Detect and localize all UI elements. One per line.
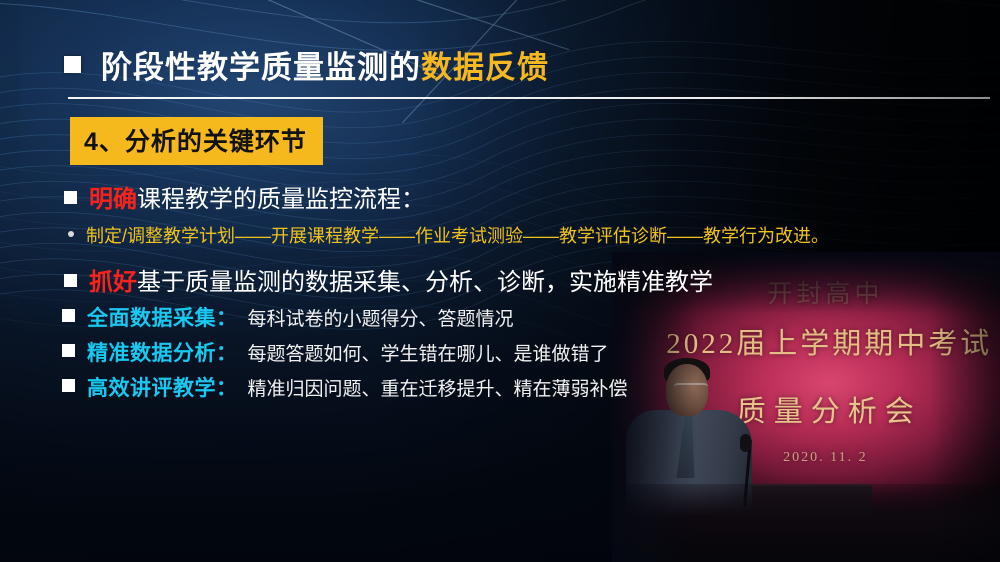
conference-photo: 开封高中 2022届上学期期中考试 质量分析会 2020. 11. 2 [612, 252, 1000, 562]
sub-item-teach: 高效讲评教学：精准归因问题、重在迁移提升、精在薄弱补偿 [62, 372, 628, 402]
page-title: 阶段性教学质量监测的数据反馈 [101, 42, 549, 87]
sub-item-teach-value: 精准归因问题、重在迁移提升、精在薄弱补偿 [248, 379, 628, 400]
square-bullet-icon [62, 309, 75, 322]
bullet-zhuahao-text: 抓好基于质量监测的数据采集、分析、诊断，实施精准教学 [89, 262, 713, 297]
sub-item-collect-content: 全面数据采集：每科试卷的小题得分、答题情况 [87, 302, 514, 332]
sub-item-teach-key: 高效讲评教学： [87, 377, 238, 400]
square-bullet-icon [62, 379, 75, 392]
sub-item-collect: 全面数据采集：每科试卷的小题得分、答题情况 [62, 302, 514, 332]
square-bullet-icon [64, 191, 77, 204]
section-heading-chip: 4、分析的关键环节 [70, 117, 323, 165]
bullet-process: 制定/调整教学计划——开展课程教学——作业考试测验——教学评估诊断——教学行为改… [68, 222, 829, 248]
page-title-prefix: 阶段性教学质量监测的 [101, 50, 421, 85]
bullet-zhuahao: 抓好基于质量监测的数据采集、分析、诊断，实施精准教学 [64, 262, 713, 297]
bullet-mingque: 明确课程教学的质量监控流程： [64, 179, 425, 214]
bullet-mingque-rest: 课程教学的质量监控流程： [137, 186, 425, 213]
bullet-process-text: 制定/调整教学计划——开展课程教学——作业考试测验——教学评估诊断——教学行为改… [86, 222, 829, 248]
title-divider [68, 97, 990, 99]
photo-inner: 开封高中 2022届上学期期中考试 质量分析会 2020. 11. 2 [612, 252, 1000, 562]
bullet-zhuahao-rest: 基于质量监测的数据采集、分析、诊断，实施精准教学 [137, 269, 713, 296]
dot-bullet-icon [68, 231, 74, 237]
square-bullet-icon [62, 344, 75, 357]
bullet-mingque-emphasis: 明确 [89, 186, 137, 213]
square-bullet-icon [64, 274, 77, 287]
square-bullet-icon [64, 56, 81, 73]
sub-item-analyze-content: 精准数据分析：每题答题如何、学生错在哪儿、是谁做错了 [87, 337, 609, 367]
page-title-highlight: 数据反馈 [421, 50, 549, 85]
photo-edge-fade [612, 252, 1000, 562]
sub-item-teach-content: 高效讲评教学：精准归因问题、重在迁移提升、精在薄弱补偿 [87, 372, 628, 402]
sub-item-collect-value: 每科试卷的小题得分、答题情况 [248, 309, 514, 330]
sub-item-analyze: 精准数据分析：每题答题如何、学生错在哪儿、是谁做错了 [62, 337, 609, 367]
sub-item-collect-key: 全面数据采集： [87, 307, 238, 330]
slide-title-row: 阶段性教学质量监测的数据反馈 [64, 42, 549, 87]
sub-item-analyze-value: 每题答题如何、学生错在哪儿、是谁做错了 [248, 344, 609, 365]
presentation-slide: 开封高中 2022届上学期期中考试 质量分析会 2020. 11. 2 阶段性教… [0, 0, 1000, 562]
sub-item-analyze-key: 精准数据分析： [87, 342, 238, 365]
bullet-zhuahao-emphasis: 抓好 [89, 269, 137, 296]
bullet-mingque-text: 明确课程教学的质量监控流程： [89, 179, 425, 214]
